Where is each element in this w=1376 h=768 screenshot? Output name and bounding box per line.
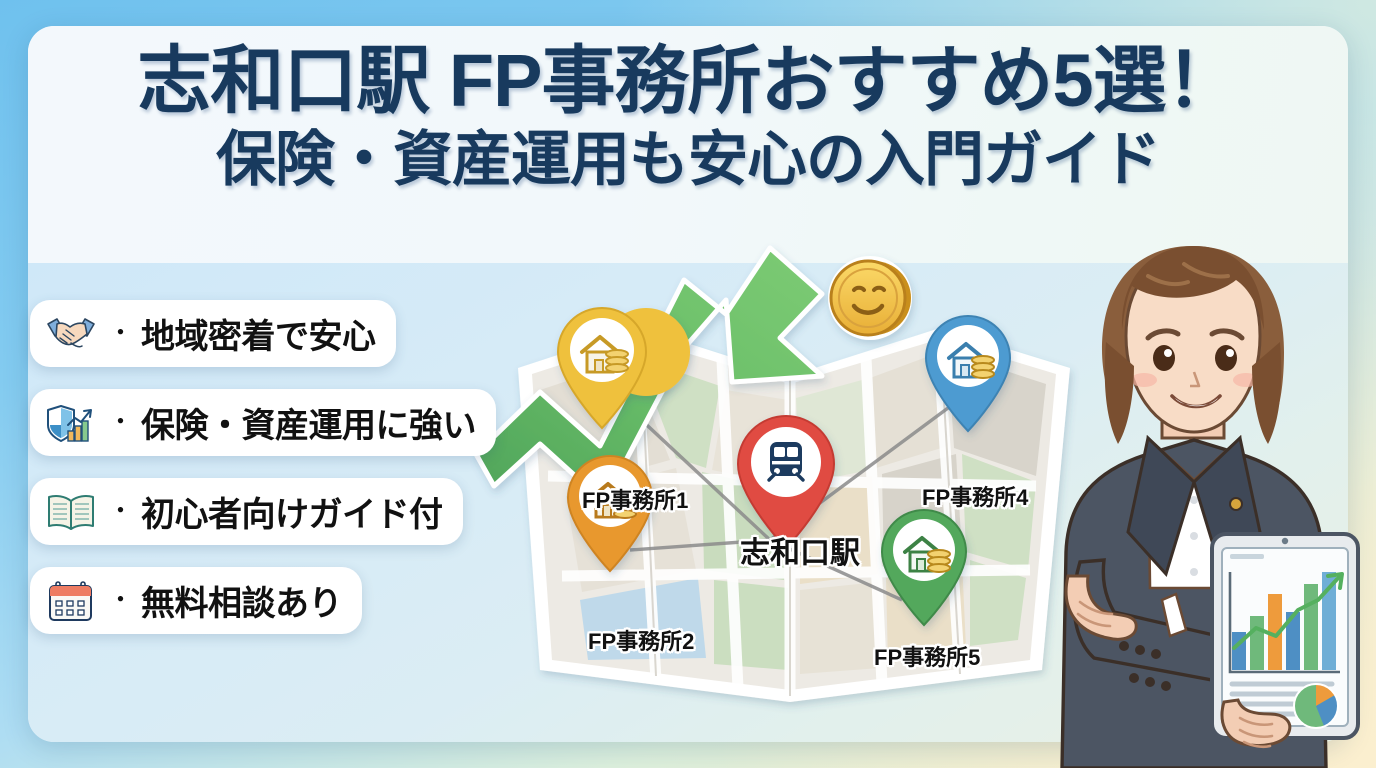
feature-badge-free-consult: ・ 無料相談あり [30,567,362,634]
train-icon [769,442,803,480]
feature-badge-insurance: ・ 保険・資産運用に強い [30,389,496,456]
title-line-1: 志和口駅 FP事務所おすすめ5選！ [137,43,1238,120]
feature-label: 地域密着で安心 [141,309,376,358]
feature-badge-guide: ・ 初心者向けガイド付 [30,478,463,545]
shield-chart-icon [44,401,98,445]
map-pin-label-office-4: FP事務所4 [922,480,1028,512]
feature-badge-list: ・ 地域密着で安心 ・ 保険・資産運用に強い [30,300,496,656]
feature-badge-local: ・ 地域密着で安心 [30,300,396,367]
feature-label: 無料相談あり [141,576,342,625]
bullet-dot: ・ [108,499,133,524]
open-book-icon [44,490,98,534]
smiling-coin-icon [828,256,912,340]
title-line-2: 保険・資産運用も安心の入門ガイド [216,126,1160,193]
map-illustration: FP事務所1 FP事務所2 FP事務所4 FP事務所5 志和口駅 [470,240,1110,718]
bullet-dot: ・ [108,321,133,346]
feature-label: 初心者向けガイド付 [141,487,443,536]
map-pin-label-office-5: FP事務所5 [874,640,980,672]
businesswoman-illustration [1044,232,1376,768]
map-pin-label-office-2: FP事務所2 [588,624,694,656]
calendar-icon [44,579,98,623]
bullet-dot: ・ [108,588,133,613]
poster-canvas: 志和口駅 FP事務所おすすめ5選！ 保険・資産運用も安心の入門ガイド ・ 地域密… [0,0,1376,768]
map-pin-label-station: 志和口駅 [740,528,860,572]
handshake-icon [44,312,98,356]
map-pin-label-office-1: FP事務所1 [582,483,688,515]
page-title: 志和口駅 FP事務所おすすめ5選！ 保険・資産運用も安心の入門ガイド [0,0,1376,237]
feature-label: 保険・資産運用に強い [141,398,476,447]
bullet-dot: ・ [108,410,133,435]
